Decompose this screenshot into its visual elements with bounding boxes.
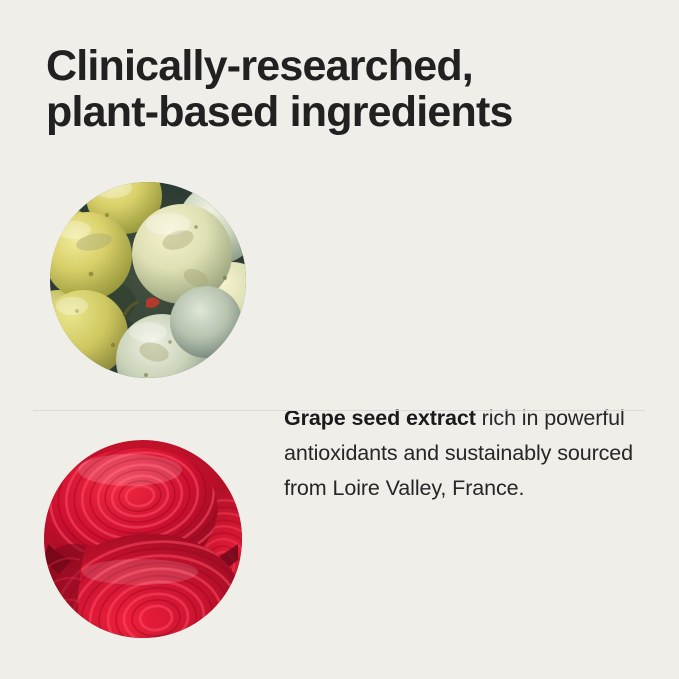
ingredient-description-grape-seed-extract: Grape seed extract rich in powerful anti… — [284, 401, 636, 506]
page-title-line-2: plant-based ingredients — [46, 89, 646, 135]
section-divider — [33, 410, 645, 411]
page-title-line-1: Clinically-researched, — [46, 43, 646, 89]
grape-cluster-photo — [50, 182, 246, 378]
ingredients-infographic: Clinically-researched, plant-based ingre… — [0, 0, 679, 679]
page-title: Clinically-researched, plant-based ingre… — [46, 43, 646, 135]
sliced-beetroot-photo — [44, 440, 242, 638]
